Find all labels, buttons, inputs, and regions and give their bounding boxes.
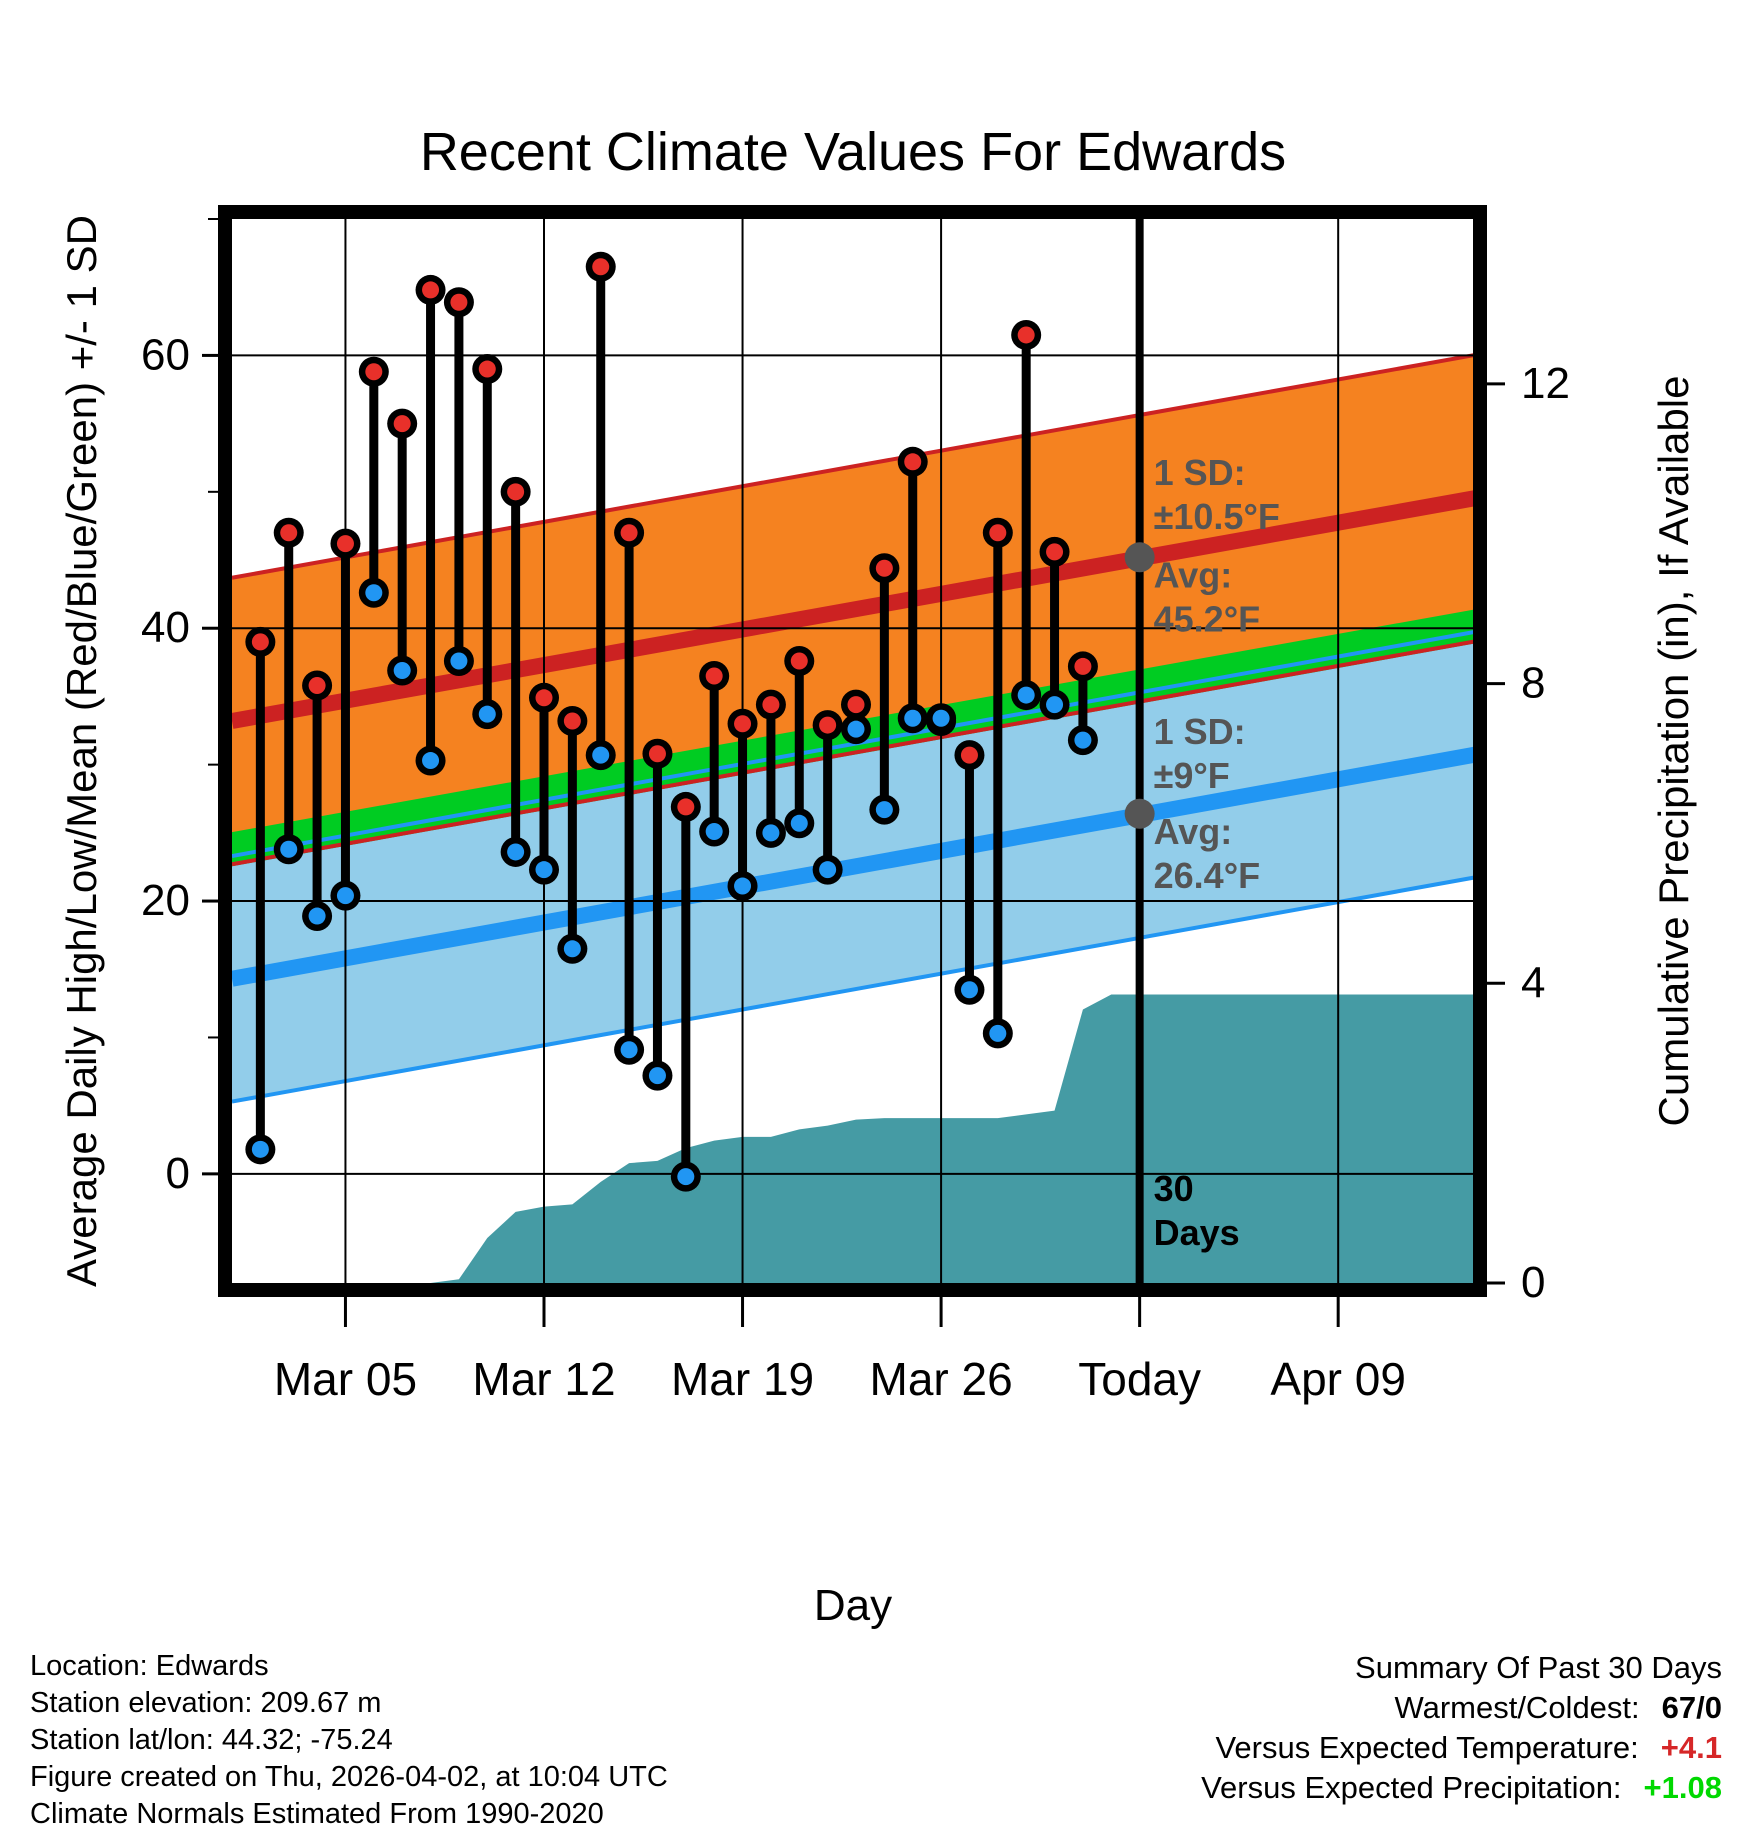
high-avg-dot bbox=[1125, 542, 1155, 572]
high-marker-3 bbox=[337, 535, 354, 552]
low-marker-5 bbox=[394, 662, 411, 679]
low-marker-15 bbox=[677, 1168, 694, 1185]
low-marker-25 bbox=[961, 981, 978, 998]
xtick-label-2: Mar 19 bbox=[671, 1353, 814, 1405]
ytick-label-right-2: 8 bbox=[1521, 659, 1545, 708]
low-marker-14 bbox=[649, 1067, 666, 1084]
high-marker-15 bbox=[677, 798, 694, 815]
high-marker-7 bbox=[450, 294, 467, 311]
chart-canvas: 1 SD:±10.5°FAvg:45.2°F1 SD:±9°FAvg:26.4°… bbox=[0, 0, 1748, 1828]
low-marker-6 bbox=[422, 752, 439, 769]
low-marker-8 bbox=[479, 706, 496, 723]
summary-heading-row: Summary Of Past 30 Days bbox=[1201, 1648, 1722, 1688]
xtick-label-3: Mar 26 bbox=[870, 1353, 1013, 1405]
metadata-normals: Climate Normals Estimated From 1990-2020 bbox=[30, 1796, 668, 1833]
low-marker-9 bbox=[507, 843, 524, 860]
high-marker-27 bbox=[1018, 326, 1035, 343]
y2-axis-title: Cumulative Precipitation (in), If Availa… bbox=[1650, 376, 1697, 1127]
low-marker-7 bbox=[450, 652, 467, 669]
xtick-label-4: Today bbox=[1078, 1353, 1201, 1405]
summary-panel: Summary Of Past 30 Days Warmest/Coldest:… bbox=[1201, 1648, 1722, 1808]
climate-figure: 1 SD:±10.5°FAvg:45.2°F1 SD:±9°FAvg:26.4°… bbox=[0, 0, 1748, 1828]
high-avg-line-1: 45.2°F bbox=[1154, 598, 1260, 639]
high-marker-21 bbox=[848, 696, 865, 713]
high-marker-20 bbox=[819, 717, 836, 734]
low-marker-29 bbox=[1074, 732, 1091, 749]
high-marker-18 bbox=[762, 696, 779, 713]
high-marker-2 bbox=[309, 677, 326, 694]
low-marker-19 bbox=[791, 815, 808, 832]
low-marker-1 bbox=[280, 841, 297, 858]
low-marker-28 bbox=[1046, 696, 1063, 713]
summary-value-2: +1.08 bbox=[1644, 1768, 1722, 1808]
low-marker-10 bbox=[536, 861, 553, 878]
ytick-label-right-0: 0 bbox=[1521, 1258, 1545, 1307]
low-avg-line-1: 26.4°F bbox=[1154, 855, 1260, 896]
low-marker-17 bbox=[734, 878, 751, 895]
xtick-label-5: Apr 09 bbox=[1270, 1353, 1406, 1405]
low-avg-dot bbox=[1125, 799, 1155, 829]
summary-label-2: Versus Expected Precipitation: bbox=[1201, 1768, 1621, 1808]
metadata-elevation: Station elevation: 209.67 m bbox=[30, 1685, 668, 1722]
summary-label-0: Warmest/Coldest: bbox=[1394, 1688, 1639, 1728]
high-marker-16 bbox=[706, 667, 723, 684]
low-marker-24 bbox=[933, 710, 950, 727]
low-marker-12 bbox=[592, 747, 609, 764]
xtick-label-0: Mar 05 bbox=[274, 1353, 417, 1405]
low-marker-13 bbox=[621, 1041, 638, 1058]
chart-title: Recent Climate Values For Edwards bbox=[420, 122, 1286, 182]
y-axis-title: Average Daily High/Low/Mean (Red/Blue/Gr… bbox=[58, 215, 105, 1287]
metadata-created: Figure created on Thu, 2026-04-02, at 10… bbox=[30, 1759, 668, 1796]
low-marker-21 bbox=[848, 721, 865, 738]
low-marker-18 bbox=[762, 824, 779, 841]
high-marker-23 bbox=[904, 453, 921, 470]
metadata-latlon: Station lat/lon: 44.32; -75.24 bbox=[30, 1722, 668, 1759]
summary-label-1: Versus Expected Temperature: bbox=[1215, 1728, 1638, 1768]
high-marker-8 bbox=[479, 361, 496, 378]
high-marker-11 bbox=[564, 712, 581, 729]
low-marker-20 bbox=[819, 861, 836, 878]
low-marker-2 bbox=[309, 908, 326, 925]
low-marker-0 bbox=[252, 1141, 269, 1158]
summary-value-0: 67/0 bbox=[1662, 1688, 1722, 1728]
high-marker-6 bbox=[422, 281, 439, 298]
ytick-label-left-1: 20 bbox=[141, 876, 190, 925]
high-marker-25 bbox=[961, 747, 978, 764]
high-marker-10 bbox=[536, 689, 553, 706]
high-marker-19 bbox=[791, 652, 808, 669]
ytick-label-left-2: 40 bbox=[141, 603, 190, 652]
ytick-label-right-1: 4 bbox=[1521, 958, 1545, 1007]
ytick-label-left-0: 0 bbox=[166, 1149, 190, 1198]
summary-heading: Summary Of Past 30 Days bbox=[1355, 1648, 1722, 1688]
xtick-label-1: Mar 12 bbox=[472, 1353, 615, 1405]
summary-row-0: Warmest/Coldest: 67/0 bbox=[1201, 1688, 1722, 1728]
days-window-line-0: 30 bbox=[1154, 1168, 1194, 1209]
figure-metadata: Location: Edwards Station elevation: 209… bbox=[30, 1648, 668, 1833]
high-marker-17 bbox=[734, 715, 751, 732]
high-marker-13 bbox=[621, 524, 638, 541]
low-sd-line-1: ±9°F bbox=[1154, 755, 1230, 796]
low-sd-line-0: 1 SD: bbox=[1154, 711, 1246, 752]
low-marker-3 bbox=[337, 887, 354, 904]
high-sd-line-1: ±10.5°F bbox=[1154, 496, 1280, 537]
low-marker-26 bbox=[989, 1025, 1006, 1042]
summary-row-2: Versus Expected Precipitation: +1.08 bbox=[1201, 1768, 1722, 1808]
low-marker-27 bbox=[1018, 687, 1035, 704]
low-marker-23 bbox=[904, 710, 921, 727]
ytick-label-right-3: 12 bbox=[1521, 359, 1570, 408]
high-marker-12 bbox=[592, 258, 609, 275]
high-sd-line-0: 1 SD: bbox=[1154, 452, 1246, 493]
high-marker-0 bbox=[252, 633, 269, 650]
low-marker-4 bbox=[365, 584, 382, 601]
low-marker-16 bbox=[706, 823, 723, 840]
high-marker-5 bbox=[394, 415, 411, 432]
summary-row-1: Versus Expected Temperature: +4.1 bbox=[1201, 1728, 1722, 1768]
high-marker-28 bbox=[1046, 543, 1063, 560]
high-marker-14 bbox=[649, 745, 666, 762]
summary-value-1: +4.1 bbox=[1661, 1728, 1722, 1768]
metadata-location: Location: Edwards bbox=[30, 1648, 668, 1685]
high-marker-26 bbox=[989, 524, 1006, 541]
days-window-line-1: Days bbox=[1154, 1212, 1240, 1253]
high-avg-line-0: Avg: bbox=[1154, 554, 1233, 595]
low-marker-11 bbox=[564, 940, 581, 957]
ytick-label-left-3: 60 bbox=[141, 330, 190, 379]
high-marker-4 bbox=[365, 363, 382, 380]
high-marker-1 bbox=[280, 524, 297, 541]
x-axis-title: Day bbox=[814, 1581, 892, 1630]
low-avg-line-0: Avg: bbox=[1154, 811, 1233, 852]
high-marker-22 bbox=[876, 560, 893, 577]
high-marker-29 bbox=[1074, 658, 1091, 675]
low-marker-22 bbox=[876, 801, 893, 818]
high-marker-9 bbox=[507, 483, 524, 500]
